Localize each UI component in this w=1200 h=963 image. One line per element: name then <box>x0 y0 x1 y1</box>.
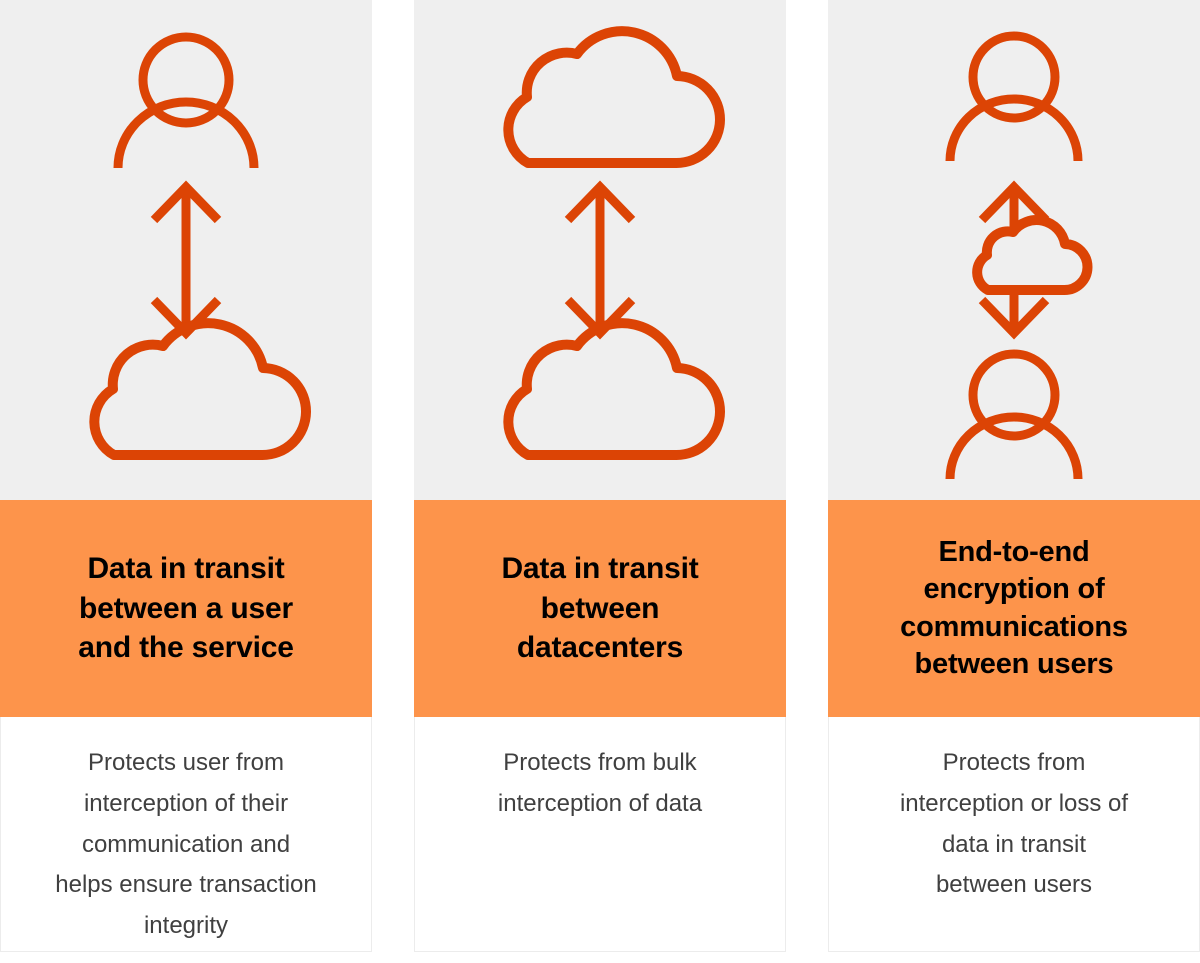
scenario-column-2: Data in transit between datacenters Prot… <box>414 0 786 963</box>
cloud-icon <box>508 323 720 455</box>
title-band-3: End-to-end encryption of communications … <box>828 500 1200 717</box>
encryption-scenarios-board: Data in transit between a user and the s… <box>0 0 1200 963</box>
scenario-description-2: Protects from bulk interception of data <box>498 743 702 825</box>
icon-panel-3 <box>828 0 1200 500</box>
scenario-title-3: End-to-end encryption of communications … <box>900 534 1128 682</box>
icon-panel-2 <box>414 0 786 500</box>
scenario-column-1: Data in transit between a user and the s… <box>0 0 372 963</box>
title-band-1: Data in transit between a user and the s… <box>0 500 372 717</box>
cloud-icon <box>508 31 720 163</box>
description-panel-1: Protects user from interception of their… <box>0 717 372 952</box>
double-arrow-vertical-icon <box>154 187 218 333</box>
cloud-icon <box>977 220 1087 290</box>
scenario-title-2: Data in transit between datacenters <box>501 549 698 669</box>
title-band-2: Data in transit between datacenters <box>414 500 786 717</box>
person-icon <box>950 354 1078 479</box>
description-panel-3: Protects from interception or loss of da… <box>828 717 1200 952</box>
scenario-column-3: End-to-end encryption of communications … <box>828 0 1200 963</box>
icon-panel-1 <box>0 0 372 500</box>
description-panel-2: Protects from bulk interception of data <box>414 717 786 952</box>
person-icon <box>118 37 254 168</box>
person-icon <box>950 36 1078 161</box>
scenario-title-1: Data in transit between a user and the s… <box>78 549 293 669</box>
double-arrow-vertical-with-cloud-icon <box>977 187 1087 333</box>
cloud-icon <box>94 323 306 455</box>
scenario-description-1: Protects user from interception of their… <box>55 743 317 947</box>
scenario-description-3: Protects from interception or loss of da… <box>900 743 1128 906</box>
double-arrow-vertical-icon <box>568 187 632 333</box>
